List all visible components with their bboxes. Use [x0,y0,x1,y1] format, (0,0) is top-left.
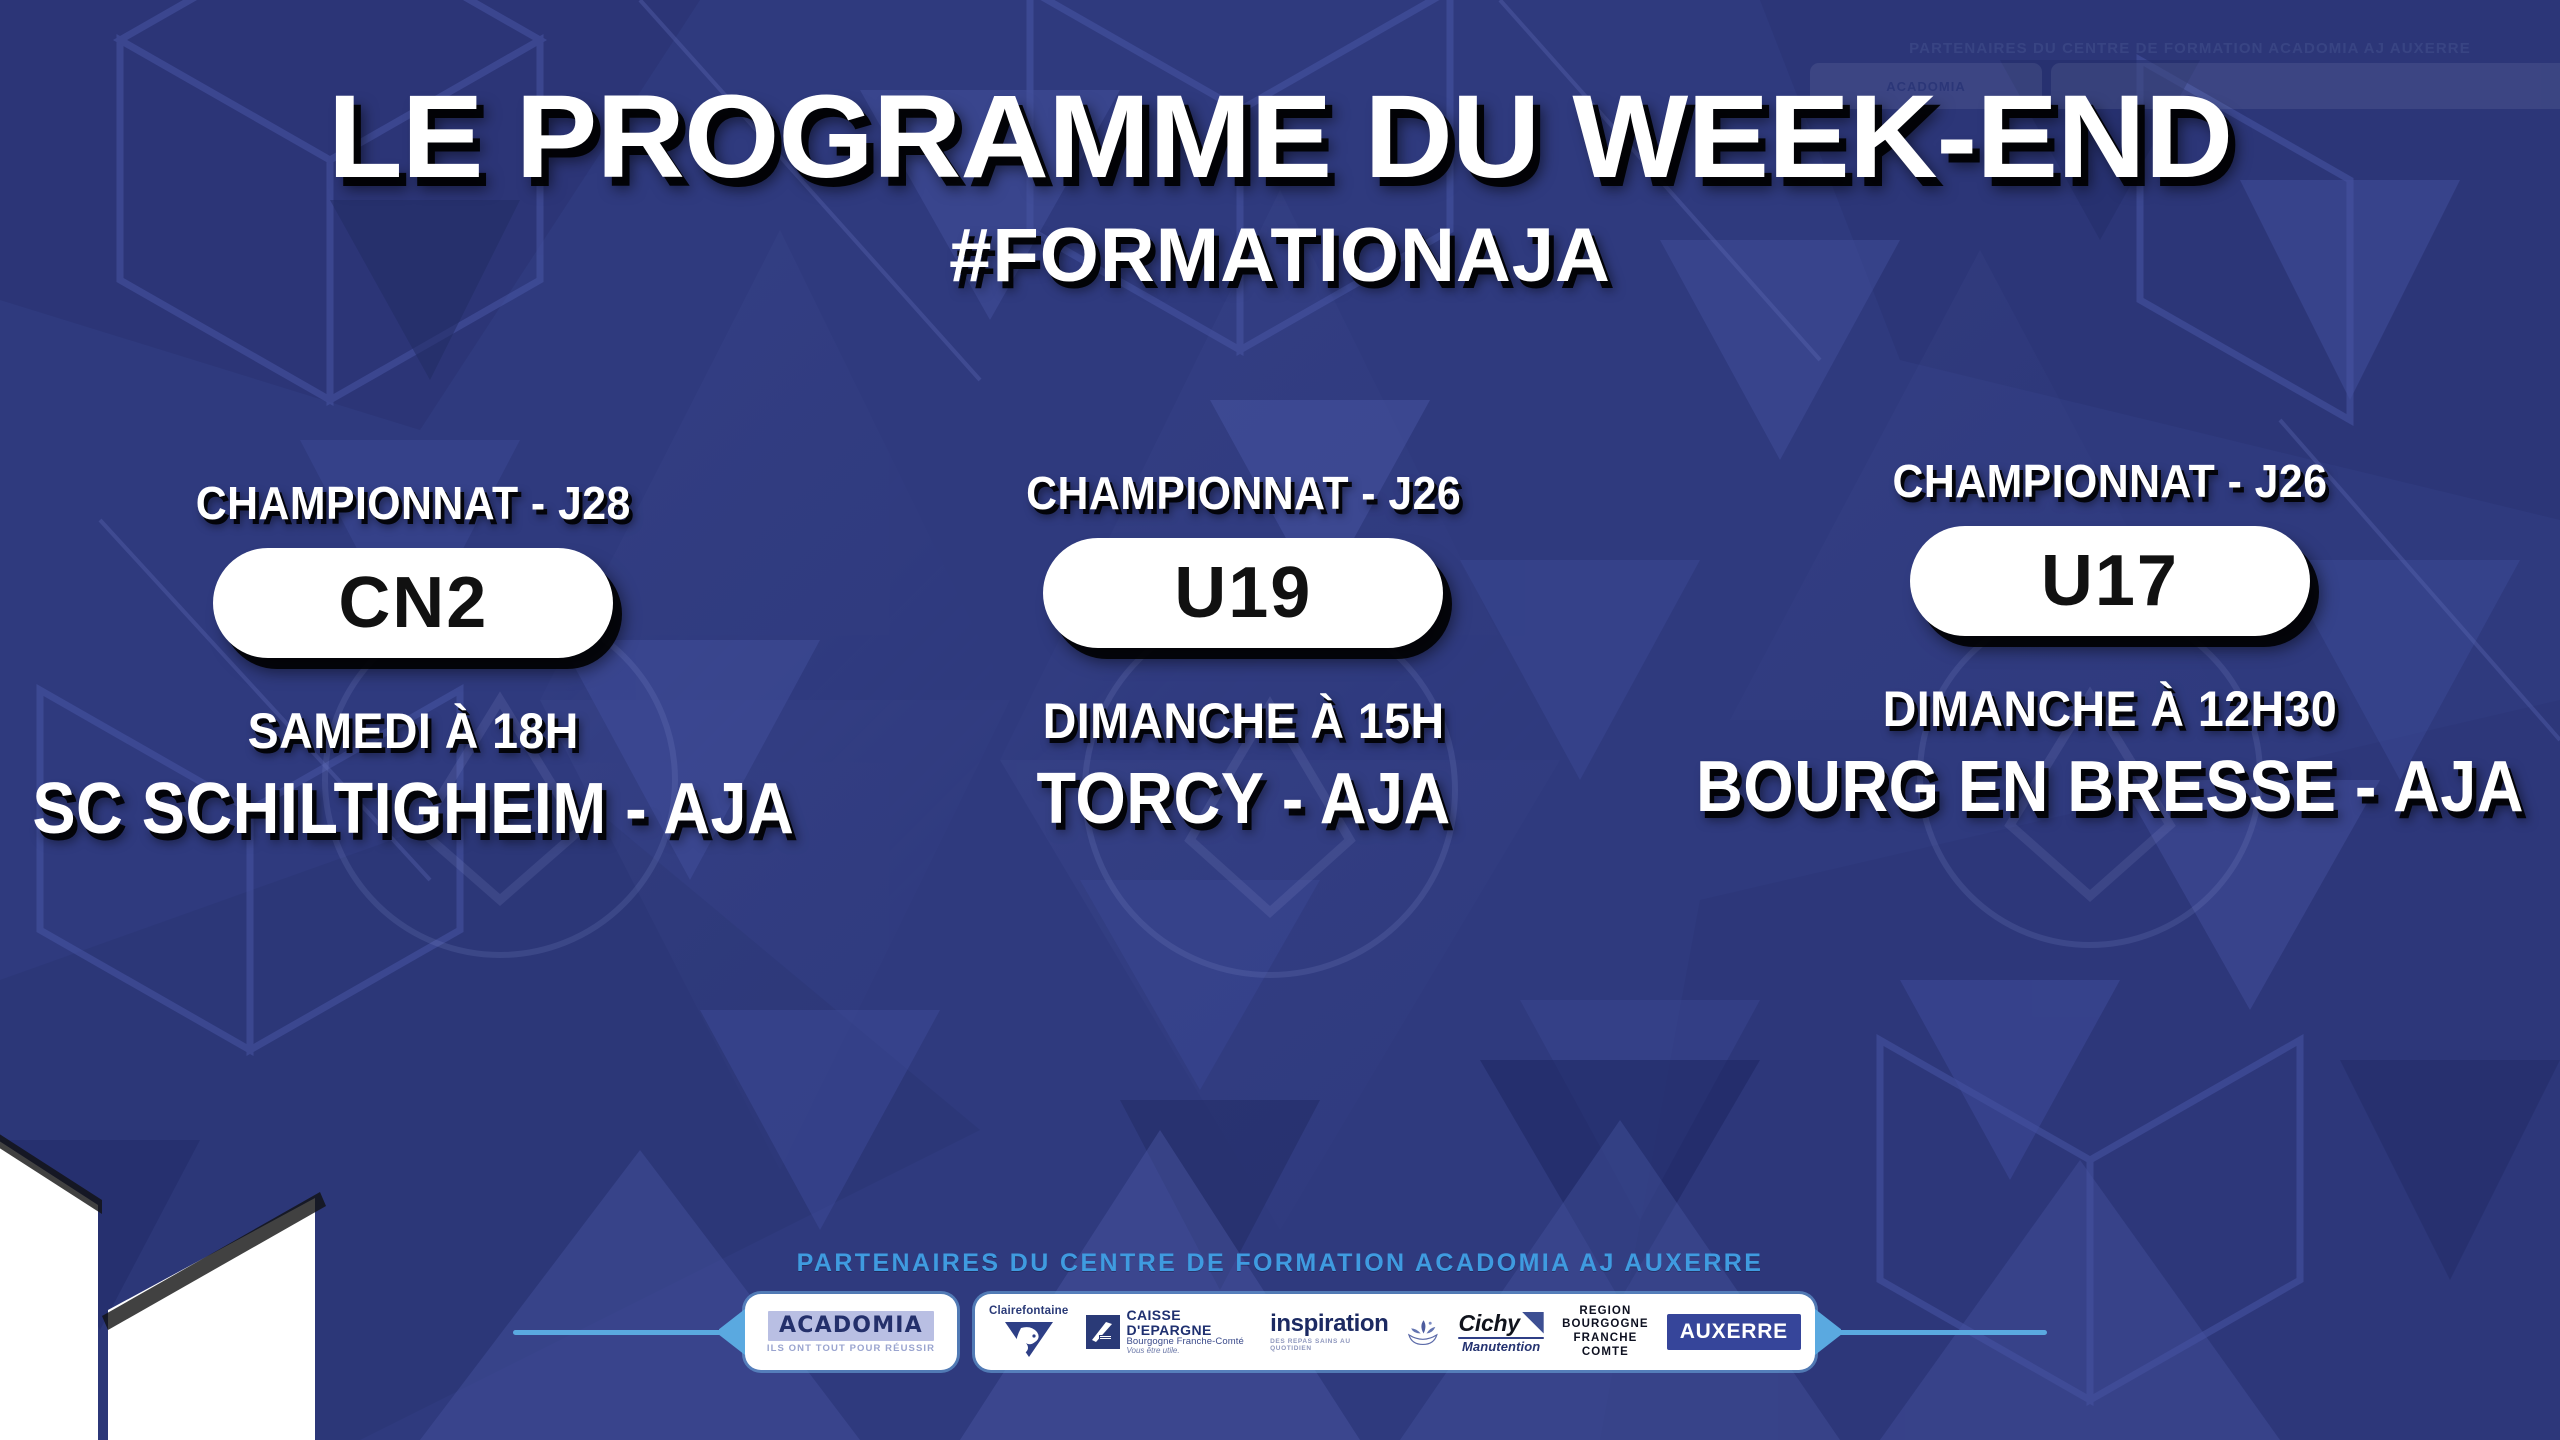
clairefontaine-label: Clairefontaine [989,1306,1068,1318]
partner-box-acadomia[interactable]: ACADOMIA ILS ONT TOUT POUR RÉUSSIR [745,1294,957,1370]
partners-rail-left [513,1330,723,1335]
competition-label: CHAMPIONNAT - J26 [1682,458,2538,504]
region-line-1: REGION [1579,1305,1631,1319]
clairefontaine-logo[interactable]: Clairefontaine [989,1306,1068,1358]
fixture-label: BOURG EN BRESSE - AJA [1696,750,2524,826]
cichy-subtitle: Manutention [1462,1340,1540,1353]
category-badge: U17 [1910,526,2310,636]
caisse-epargne-text: CAISSE D'EPARGNE Bourgogne Franche-Comté… [1126,1308,1243,1355]
inspiration-bowl-icon [1406,1312,1440,1352]
competition-label: CHAMPIONNAT - J28 [20,480,807,526]
auxerre-wordmark: AUXERRE [1680,1320,1788,1343]
category-label: U19 [1174,557,1312,629]
match-card: CHAMPIONNAT - J26 U19 DIMANCHE À 15H TOR… [837,470,1650,838]
cichy-wordmark: Cichy [1459,1312,1520,1335]
partners-footer: PARTENAIRES DU CENTRE DE FORMATION ACADO… [0,1249,2560,1370]
category-badge: U19 [1043,538,1443,648]
category-label: U17 [2041,545,2179,617]
region-line-4: COMTE [1582,1346,1629,1360]
caisse-epargne-logo[interactable]: CAISSE D'EPARGNE Bourgogne Franche-Comté… [1086,1308,1252,1355]
match-card: CHAMPIONNAT - J26 U17 DIMANCHE À 12H30 B… [1650,458,2560,826]
caisse-epargne-icon [1086,1315,1120,1349]
acadomia-tagline: ILS ONT TOUT POUR RÉUSSIR [767,1344,935,1354]
auxerre-city-logo[interactable]: AUXERRE [1667,1314,1801,1350]
fixture-label: TORCY - AJA [877,762,1609,838]
cichy-logo[interactable]: Cichy Manutention [1458,1312,1544,1353]
partner-box-main[interactable]: Clairefontaine [975,1294,1815,1370]
caisse-line-4: Vous être utile. [1126,1347,1243,1355]
acadomia-logo: ACADOMIA ILS ONT TOUT POUR RÉUSSIR [767,1311,935,1354]
category-badge: CN2 [213,548,613,658]
acadomia-wordmark: ACADOMIA [779,1315,923,1337]
cichy-top-row: Cichy [1459,1312,1544,1335]
region-line-2: BOURGOGNE [1562,1318,1649,1332]
category-label: CN2 [338,567,488,639]
caisse-line-2: D'EPARGNE [1126,1323,1243,1338]
caisse-line-1: CAISSE [1126,1308,1243,1323]
headline-block: LE PROGRAMME DU WEEK-END #FORMATIONAJA [0,78,2560,294]
partners-row: ACADOMIA ILS ONT TOUT POUR RÉUSSIR Clair… [0,1294,2560,1370]
partners-rail-right [1837,1330,2047,1335]
partners-title: PARTENAIRES DU CENTRE DE FORMATION ACADO… [0,1249,2560,1278]
partners-rail-right-cap [1815,1309,1841,1355]
cichy-triangle-icon [1522,1312,1544,1334]
region-bfc-logo[interactable]: REGION BOURGOGNE FRANCHE COMTE [1562,1305,1649,1359]
hashtag: #FORMATIONAJA [0,218,2560,294]
match-card: CHAMPIONNAT - J28 CN2 SAMEDI À 18H SC SC… [0,480,837,848]
region-line-3: FRANCHE [1573,1332,1637,1346]
inspiration-wordmark: inspiration [1270,1312,1388,1336]
inspiration-logo[interactable]: inspiration DES REPAS SAINS AU QUOTIDIEN [1270,1312,1388,1352]
page-title: LE PROGRAMME DU WEEK-END [0,78,2560,196]
poster-canvas: PARTENAIRES DU CENTRE DE FORMATION ACADO… [0,0,2560,1440]
fixture-label: SC SCHILTIGHEIM - AJA [32,772,794,848]
match-list: CHAMPIONNAT - J28 CN2 SAMEDI À 18H SC SC… [0,470,2560,838]
inspiration-tagline: DES REPAS SAINS AU QUOTIDIEN [1270,1338,1388,1352]
clairefontaine-icon [1003,1320,1055,1358]
partners-rail-left-cap [719,1309,745,1355]
kickoff-label: SAMEDI À 18H [20,706,807,756]
acadomia-wordmark-plate: ACADOMIA [768,1311,934,1341]
kickoff-label: DIMANCHE À 12H30 [1682,684,2538,734]
competition-label: CHAMPIONNAT - J26 [865,470,1621,516]
kickoff-label: DIMANCHE À 15H [865,696,1621,746]
